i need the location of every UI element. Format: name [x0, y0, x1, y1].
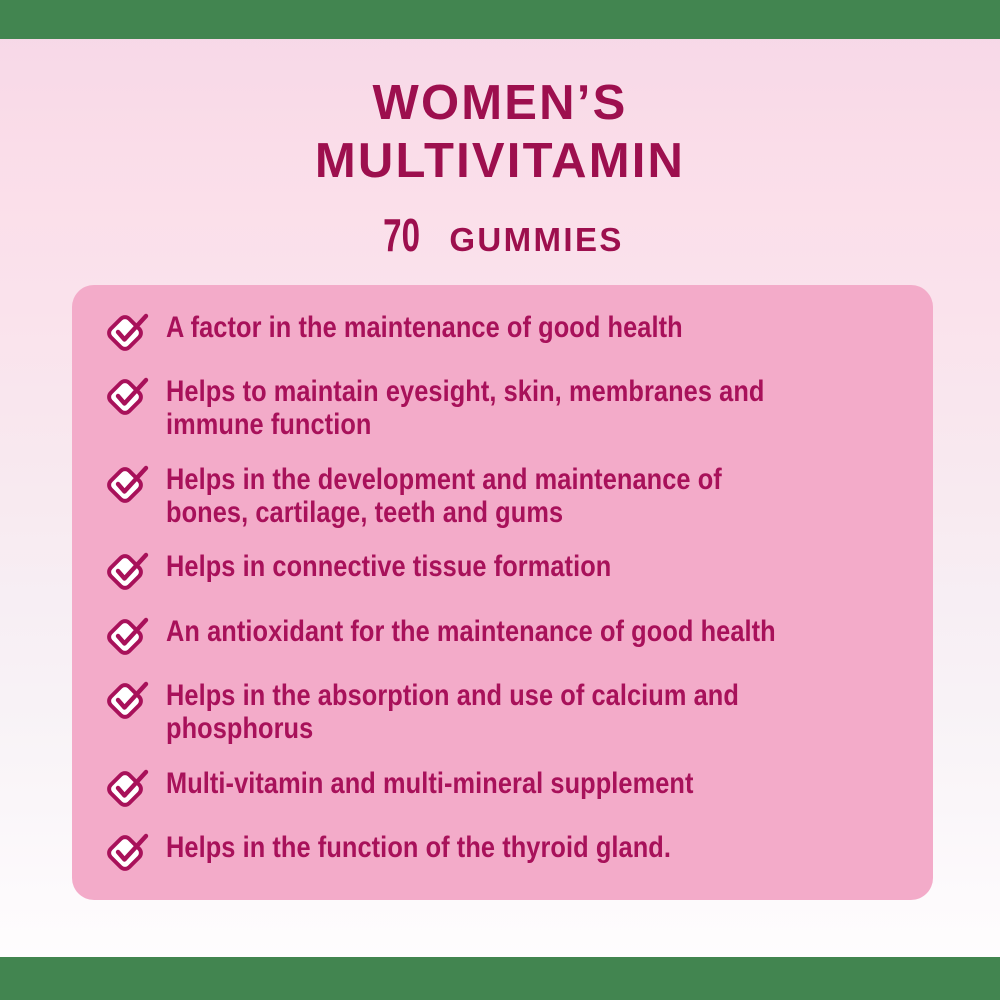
check-diamond-icon: [106, 376, 152, 418]
check-diamond-icon: [106, 464, 152, 506]
top-green-band: [0, 0, 1000, 39]
check-diamond-icon: [106, 832, 152, 874]
bottom-green-band: [0, 957, 1000, 1000]
benefit-label: Helps in the development and maintenance…: [166, 463, 789, 529]
list-item: Helps to maintain eyesight, skin, membra…: [106, 375, 903, 441]
list-item: Helps in the development and maintenance…: [106, 463, 903, 529]
benefits-card: A factor in the maintenance of good heal…: [72, 285, 933, 900]
list-item: An antioxidant for the maintenance of go…: [106, 615, 903, 658]
gummy-count: 70 GUMMIES: [0, 212, 1000, 260]
benefit-label: Helps in the absorption and use of calci…: [166, 679, 789, 745]
benefit-label: Helps in the function of the thyroid gla…: [166, 831, 789, 864]
list-item: Multi-vitamin and multi-mineral suppleme…: [106, 767, 903, 810]
benefit-label: Helps to maintain eyesight, skin, membra…: [166, 375, 789, 441]
gummy-count-label: GUMMIES: [449, 220, 623, 260]
list-item: Helps in connective tissue formation: [106, 550, 903, 593]
list-item: A factor in the maintenance of good heal…: [106, 311, 903, 354]
list-item: Helps in the absorption and use of calci…: [106, 679, 903, 745]
gummy-count-number: 70: [383, 212, 420, 258]
check-diamond-icon: [106, 616, 152, 658]
check-diamond-icon: [106, 312, 152, 354]
header: WOMEN’S MULTIVITAMIN 70 GUMMIES: [0, 39, 1000, 260]
benefit-label: A factor in the maintenance of good heal…: [166, 311, 789, 344]
page-title: WOMEN’S MULTIVITAMIN: [0, 39, 1000, 190]
check-diamond-icon: [106, 551, 152, 593]
list-item: Helps in the function of the thyroid gla…: [106, 831, 903, 874]
check-diamond-icon: [106, 768, 152, 810]
benefits-list: A factor in the maintenance of good heal…: [106, 311, 903, 874]
benefit-label: Multi-vitamin and multi-mineral suppleme…: [166, 767, 789, 800]
benefit-label: Helps in connective tissue formation: [166, 550, 789, 583]
benefit-label: An antioxidant for the maintenance of go…: [166, 615, 789, 648]
check-diamond-icon: [106, 680, 152, 722]
product-benefits-panel: WOMEN’S MULTIVITAMIN 70 GUMMIES A factor…: [0, 0, 1000, 1000]
